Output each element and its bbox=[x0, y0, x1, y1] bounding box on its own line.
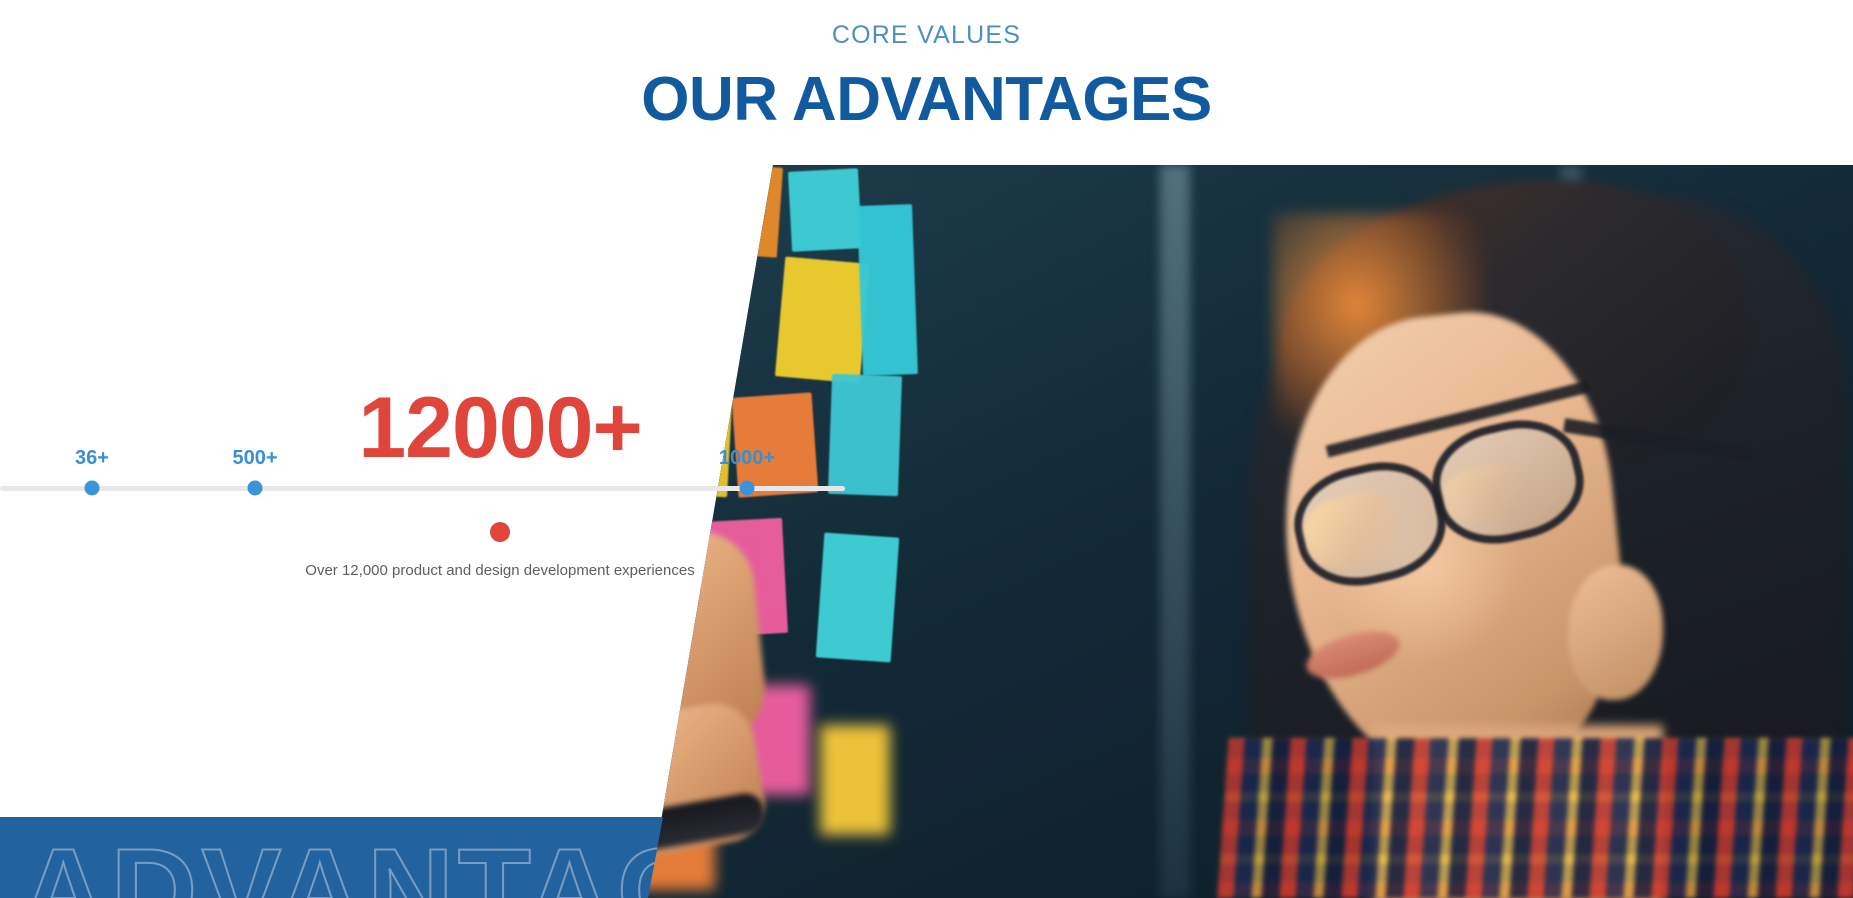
section-eyebrow: CORE VALUES bbox=[0, 0, 1853, 50]
sticky-note bbox=[426, 451, 540, 588]
sticky-note bbox=[828, 374, 902, 496]
sticky-note bbox=[275, 535, 390, 675]
sticky-note bbox=[150, 205, 260, 335]
advantages-section: ADVANTAGE CORE VALUES OUR ADVANTAGES 36+… bbox=[0, 0, 1853, 898]
sticky-note bbox=[732, 392, 819, 497]
featured-stat-caption: Over 12,000 product and design developme… bbox=[305, 562, 694, 579]
featured-stat-dot bbox=[490, 522, 510, 542]
glass-pane-edge bbox=[560, 165, 567, 898]
photo-artwork bbox=[0, 165, 1853, 898]
finger bbox=[550, 492, 610, 617]
sticky-note bbox=[637, 383, 733, 498]
glass-pane-edge bbox=[370, 165, 377, 898]
sticky-note bbox=[286, 347, 403, 493]
sticky-note bbox=[140, 565, 260, 705]
sticky-note bbox=[615, 182, 710, 309]
sticky-note bbox=[820, 725, 890, 835]
sticky-note bbox=[160, 380, 275, 515]
sticky-note bbox=[788, 168, 862, 252]
ear bbox=[1568, 565, 1663, 700]
stat-dot bbox=[248, 481, 263, 496]
stat-label: 500+ bbox=[232, 447, 277, 470]
sticky-note bbox=[10, 375, 125, 505]
stat-label: 36+ bbox=[75, 447, 109, 470]
stat-dot bbox=[85, 481, 100, 496]
sticky-note bbox=[775, 257, 870, 384]
sticky-note bbox=[20, 195, 140, 335]
hero-photo bbox=[0, 165, 1853, 898]
page-title: OUR ADVANTAGES bbox=[0, 50, 1853, 135]
sticky-note bbox=[395, 345, 470, 425]
plaid-shirt bbox=[1217, 738, 1853, 898]
sticky-note bbox=[857, 204, 918, 376]
warm-light-wash bbox=[0, 165, 560, 898]
sticky-note bbox=[697, 165, 783, 258]
sticky-note bbox=[467, 563, 567, 711]
sticky-note bbox=[816, 533, 900, 663]
sticky-note bbox=[452, 171, 548, 301]
featured-stat-value: 12000+ bbox=[358, 385, 641, 471]
section-header: CORE VALUES OUR ADVANTAGES bbox=[0, 0, 1853, 135]
sticky-note bbox=[30, 545, 150, 695]
sticky-note bbox=[285, 190, 390, 320]
person bbox=[1073, 165, 1853, 898]
